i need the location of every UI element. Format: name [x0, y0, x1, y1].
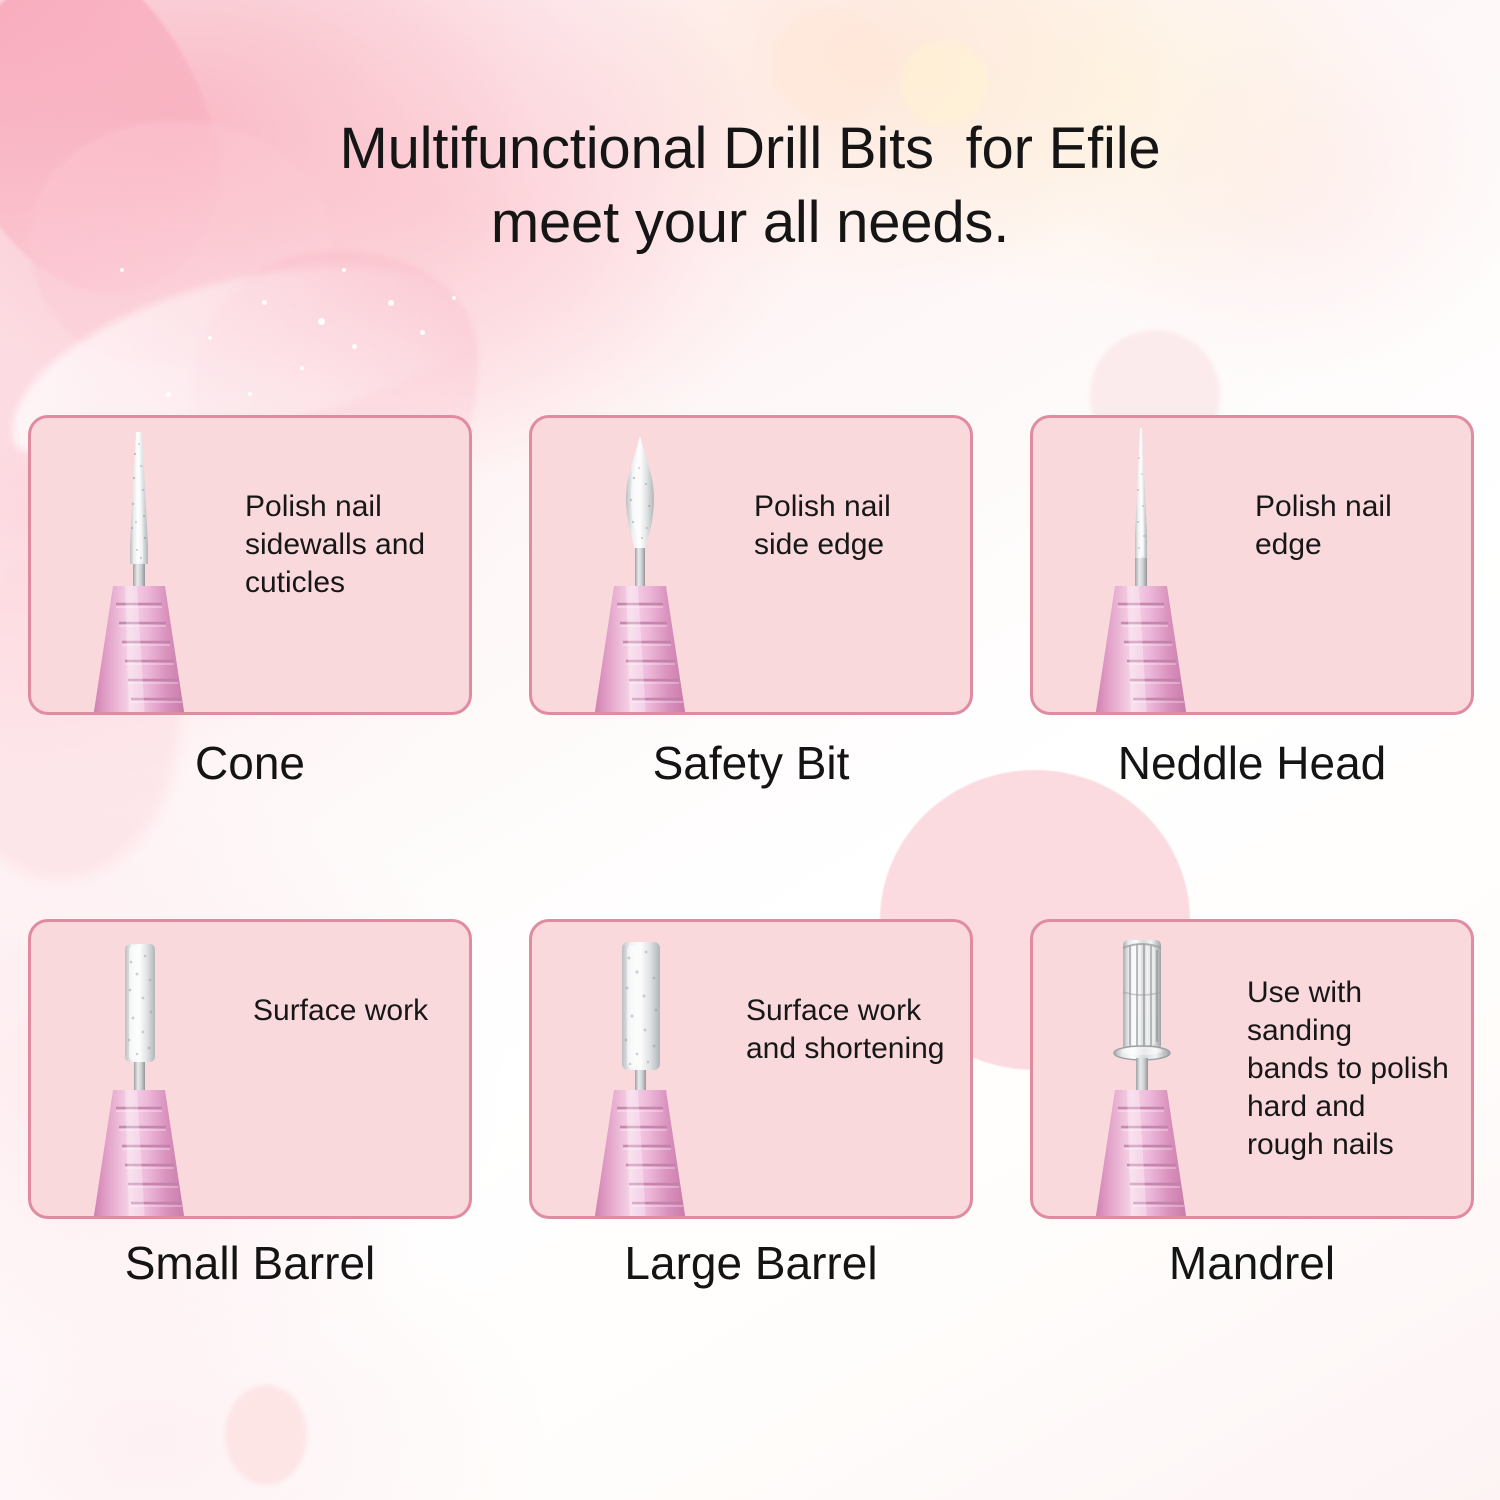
- large-barrel-drill-bit-icon: [574, 922, 734, 1219]
- card-description-mandrel: Use with sanding bands to polish hard an…: [1247, 974, 1471, 1164]
- sparkle-dot: [208, 336, 212, 340]
- card-description-small-barrel: Surface work: [253, 992, 463, 1030]
- drill-bit-cell-safety-bit: Polish nail side edge Safety Bit: [529, 415, 973, 789]
- card-label-neddle-head: Neddle Head: [1030, 737, 1474, 789]
- page-title: Multifunctional Drill Bits for Efile mee…: [0, 112, 1500, 260]
- card-mandrel[interactable]: Use with sanding bands to polish hard an…: [1030, 919, 1474, 1219]
- drill-bit-cell-large-barrel: Surface work and shortening Large Barrel: [529, 919, 973, 1289]
- sparkle-dot: [388, 300, 394, 306]
- safety-drill-bit-icon: [574, 418, 734, 715]
- card-label-small-barrel: Small Barrel: [28, 1237, 472, 1289]
- sparkle-dot: [120, 268, 124, 272]
- card-neddle-head[interactable]: Polish nail edge: [1030, 415, 1474, 715]
- background-blob-top-peach: [770, 10, 890, 120]
- card-label-cone: Cone: [28, 737, 472, 789]
- card-small-barrel[interactable]: Surface work: [28, 919, 472, 1219]
- card-cone[interactable]: Polish nail sidewalls and cuticles: [28, 415, 472, 715]
- drill-bit-row-1: Polish nail sidewalls and cuticles Cone: [28, 415, 1474, 789]
- drill-bit-row-2: Surface work Small Barrel: [28, 919, 1474, 1289]
- card-label-large-barrel: Large Barrel: [529, 1237, 973, 1289]
- small-barrel-drill-bit-icon: [73, 922, 233, 1219]
- mandrel-drill-bit-icon: [1075, 922, 1235, 1219]
- card-large-barrel[interactable]: Surface work and shortening: [529, 919, 973, 1219]
- sparkle-dot: [342, 268, 346, 272]
- sparkle-dot: [262, 300, 267, 305]
- card-label-safety-bit: Safety Bit: [529, 737, 973, 789]
- drill-bit-cell-neddle-head: Polish nail edge Neddle Head: [1030, 415, 1474, 789]
- page-title-line-2: meet your all needs.: [0, 186, 1500, 260]
- needle-drill-bit-icon: [1075, 418, 1235, 715]
- sparkle-dot: [352, 344, 357, 349]
- card-description-neddle-head: Polish nail edge: [1255, 488, 1465, 564]
- drill-bit-cell-mandrel: Use with sanding bands to polish hard an…: [1030, 919, 1474, 1289]
- card-description-large-barrel: Surface work and shortening: [746, 992, 970, 1068]
- sparkle-dot: [318, 318, 325, 325]
- sparkle-dot: [166, 392, 171, 397]
- card-label-mandrel: Mandrel: [1030, 1237, 1474, 1289]
- sparkle-dot: [420, 330, 425, 335]
- card-safety-bit[interactable]: Polish nail side edge: [529, 415, 973, 715]
- page-title-line-1: Multifunctional Drill Bits for Efile: [0, 112, 1500, 186]
- cone-drill-bit-icon: [73, 418, 233, 715]
- drill-bit-cell-cone: Polish nail sidewalls and cuticles Cone: [28, 415, 472, 789]
- sparkle-dot: [300, 366, 304, 370]
- sparkle-dot: [452, 296, 456, 300]
- background-oval-bottom-left: [225, 1385, 307, 1485]
- infographic-page: Multifunctional Drill Bits for Efile mee…: [0, 0, 1500, 1500]
- drill-bit-cell-small-barrel: Surface work Small Barrel: [28, 919, 472, 1289]
- sparkle-dot: [248, 392, 252, 396]
- drill-bit-grid: Polish nail sidewalls and cuticles Cone: [28, 415, 1474, 1289]
- card-description-safety-bit: Polish nail side edge: [754, 488, 964, 564]
- card-description-cone: Polish nail sidewalls and cuticles: [245, 488, 469, 602]
